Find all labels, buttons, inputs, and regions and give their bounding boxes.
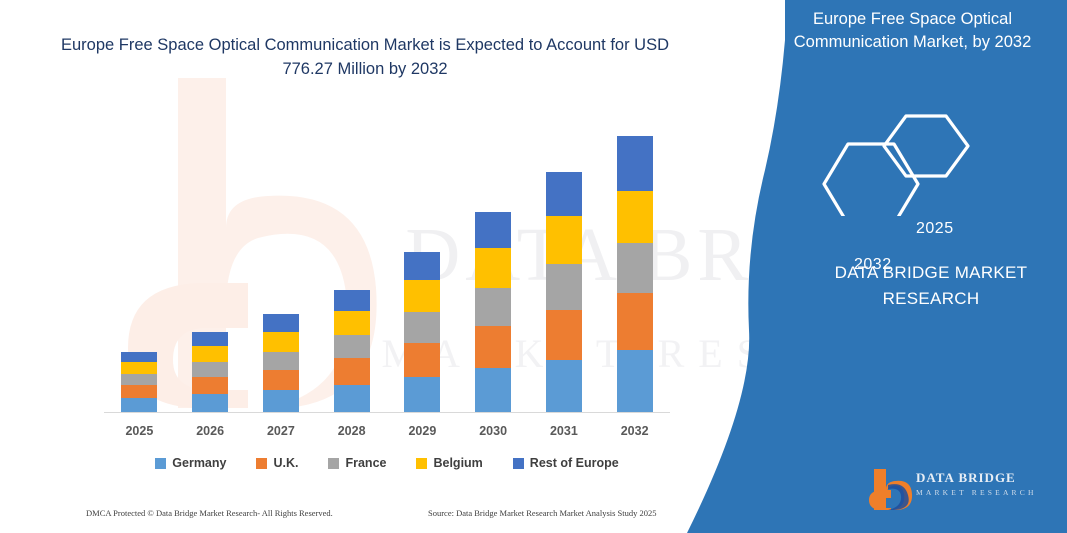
bar-2028[interactable]	[334, 290, 370, 412]
bar-segment-2027-rest-of-europe[interactable]	[263, 314, 299, 332]
bar-segment-2026-u-k[interactable]	[192, 377, 228, 394]
legend-item-rest-of-europe[interactable]: Rest of Europe	[513, 456, 619, 470]
bar-segment-2032-germany[interactable]	[617, 350, 653, 412]
bar-2030[interactable]	[475, 212, 511, 412]
bar-segment-2028-belgium[interactable]	[334, 311, 370, 335]
bar-segment-2025-france[interactable]	[121, 374, 157, 385]
hexagon-2032-shape	[824, 144, 918, 216]
bar-segment-2028-france[interactable]	[334, 335, 370, 358]
hexagons-svg	[818, 96, 1018, 216]
bar-segment-2029-germany[interactable]	[404, 377, 440, 412]
legend-item-france[interactable]: France	[328, 456, 386, 470]
bar-segment-2027-u-k[interactable]	[263, 370, 299, 390]
legend-item-germany[interactable]: Germany	[155, 456, 226, 470]
logo-text-bottom: MARKET RESEARCH	[916, 488, 1037, 497]
legend-swatch-france	[328, 458, 339, 469]
bar-segment-2030-germany[interactable]	[475, 368, 511, 412]
bar-segment-2031-france[interactable]	[546, 264, 582, 310]
legend-swatch-u-k	[256, 458, 267, 469]
panel-title: Europe Free Space Optical Communication …	[770, 8, 1055, 55]
chart-legend: GermanyU.K.FranceBelgiumRest of Europe	[104, 456, 670, 470]
legend-label-u-k: U.K.	[273, 456, 298, 470]
bar-segment-2031-belgium[interactable]	[546, 216, 582, 264]
bar-2032[interactable]	[617, 136, 653, 412]
bar-segment-2027-germany[interactable]	[263, 390, 299, 412]
bar-segment-2027-belgium[interactable]	[263, 332, 299, 352]
legend-label-belgium: Belgium	[433, 456, 482, 470]
bar-segment-2025-germany[interactable]	[121, 398, 157, 412]
legend-swatch-germany	[155, 458, 166, 469]
bar-2031[interactable]	[546, 172, 582, 412]
bar-segment-2027-france[interactable]	[263, 352, 299, 370]
bar-segment-2032-belgium[interactable]	[617, 191, 653, 243]
stacked-bar-chart	[104, 120, 670, 413]
x-axis-label-2028: 2028	[317, 424, 387, 438]
x-axis-label-2032: 2032	[600, 424, 670, 438]
bar-segment-2030-u-k[interactable]	[475, 326, 511, 368]
hexagon-2025-label: 2025	[916, 220, 954, 238]
x-axis-label-2029: 2029	[387, 424, 457, 438]
legend-swatch-rest-of-europe	[513, 458, 524, 469]
panel-brand-name: DATA BRIDGE MARKET RESEARCH	[800, 260, 1062, 311]
x-axis-labels: 20252026202720282029203020312032	[104, 424, 670, 444]
hexagon-graphic-group: 2032 2025	[818, 96, 1018, 216]
x-axis-label-2026: 2026	[175, 424, 245, 438]
bar-segment-2025-rest-of-europe[interactable]	[121, 352, 157, 362]
legend-label-germany: Germany	[172, 456, 226, 470]
logo-text-top: DATA BRIDGE	[916, 470, 1016, 486]
data-bridge-logo: DATA BRIDGE MARKET RESEARCH	[868, 466, 1048, 512]
bar-segment-2026-france[interactable]	[192, 362, 228, 377]
bar-segment-2029-rest-of-europe[interactable]	[404, 252, 440, 280]
bar-segment-2029-france[interactable]	[404, 312, 440, 343]
bar-segment-2029-u-k[interactable]	[404, 343, 440, 377]
x-axis-label-2025: 2025	[104, 424, 174, 438]
bar-segment-2032-u-k[interactable]	[617, 293, 653, 350]
bar-segment-2030-rest-of-europe[interactable]	[475, 212, 511, 248]
bar-segment-2026-germany[interactable]	[192, 394, 228, 412]
bar-segment-2031-germany[interactable]	[546, 360, 582, 412]
bar-segment-2029-belgium[interactable]	[404, 280, 440, 312]
bar-segment-2030-france[interactable]	[475, 288, 511, 326]
x-axis-label-2031: 2031	[529, 424, 599, 438]
x-axis-line	[104, 412, 670, 413]
x-axis-label-2030: 2030	[458, 424, 528, 438]
bar-segment-2028-germany[interactable]	[334, 385, 370, 412]
legend-swatch-belgium	[416, 458, 427, 469]
bar-segment-2026-rest-of-europe[interactable]	[192, 332, 228, 346]
bar-2027[interactable]	[263, 314, 299, 412]
bar-segment-2031-rest-of-europe[interactable]	[546, 172, 582, 216]
legend-label-rest-of-europe: Rest of Europe	[530, 456, 619, 470]
bar-segment-2030-belgium[interactable]	[475, 248, 511, 288]
data-bridge-logo-mark	[868, 467, 914, 511]
bar-2029[interactable]	[404, 252, 440, 412]
bar-segment-2025-u-k[interactable]	[121, 385, 157, 398]
legend-item-belgium[interactable]: Belgium	[416, 456, 482, 470]
legend-item-u-k[interactable]: U.K.	[256, 456, 298, 470]
bar-segment-2031-u-k[interactable]	[546, 310, 582, 360]
bar-segment-2025-belgium[interactable]	[121, 362, 157, 374]
bar-2025[interactable]	[121, 352, 157, 412]
bar-segment-2028-u-k[interactable]	[334, 358, 370, 385]
bar-segment-2026-belgium[interactable]	[192, 346, 228, 362]
bar-2026[interactable]	[192, 332, 228, 412]
bar-segment-2028-rest-of-europe[interactable]	[334, 290, 370, 311]
infographic-page: DATA BRIDGE MARKET RESEARCH Europe Free …	[0, 0, 1067, 533]
bar-segment-2032-rest-of-europe[interactable]	[617, 136, 653, 191]
footer-copyright: DMCA Protected © Data Bridge Market Rese…	[86, 508, 333, 518]
bar-segment-2032-france[interactable]	[617, 243, 653, 293]
chart-title: Europe Free Space Optical Communication …	[60, 34, 670, 82]
legend-label-france: France	[345, 456, 386, 470]
footer-source: Source: Data Bridge Market Research Mark…	[428, 508, 657, 518]
x-axis-label-2027: 2027	[246, 424, 316, 438]
